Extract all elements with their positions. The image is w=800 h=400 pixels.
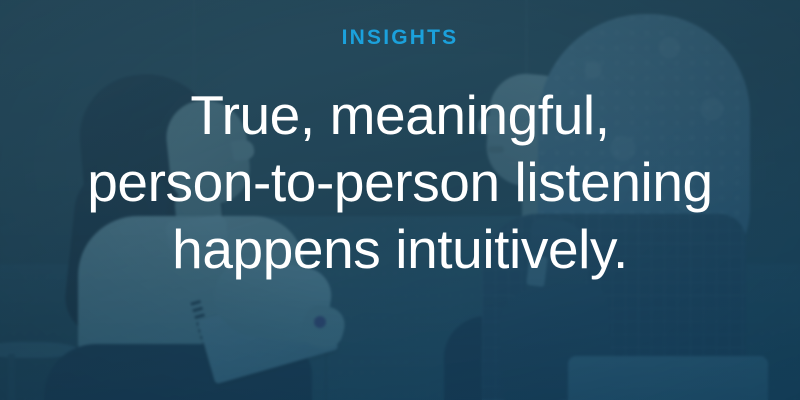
headline: True, meaningful, person-to-person liste…: [0, 82, 800, 283]
insights-quote-slide: INSIGHTS True, meaningful, person-to-per…: [0, 0, 800, 400]
slide-content: INSIGHTS True, meaningful, person-to-per…: [0, 0, 800, 400]
headline-line-1: True, meaningful,: [0, 82, 800, 149]
eyebrow-label: INSIGHTS: [0, 26, 800, 50]
headline-line-2: person-to-person listening: [0, 149, 800, 216]
headline-line-3: happens intuitively.: [0, 216, 800, 283]
